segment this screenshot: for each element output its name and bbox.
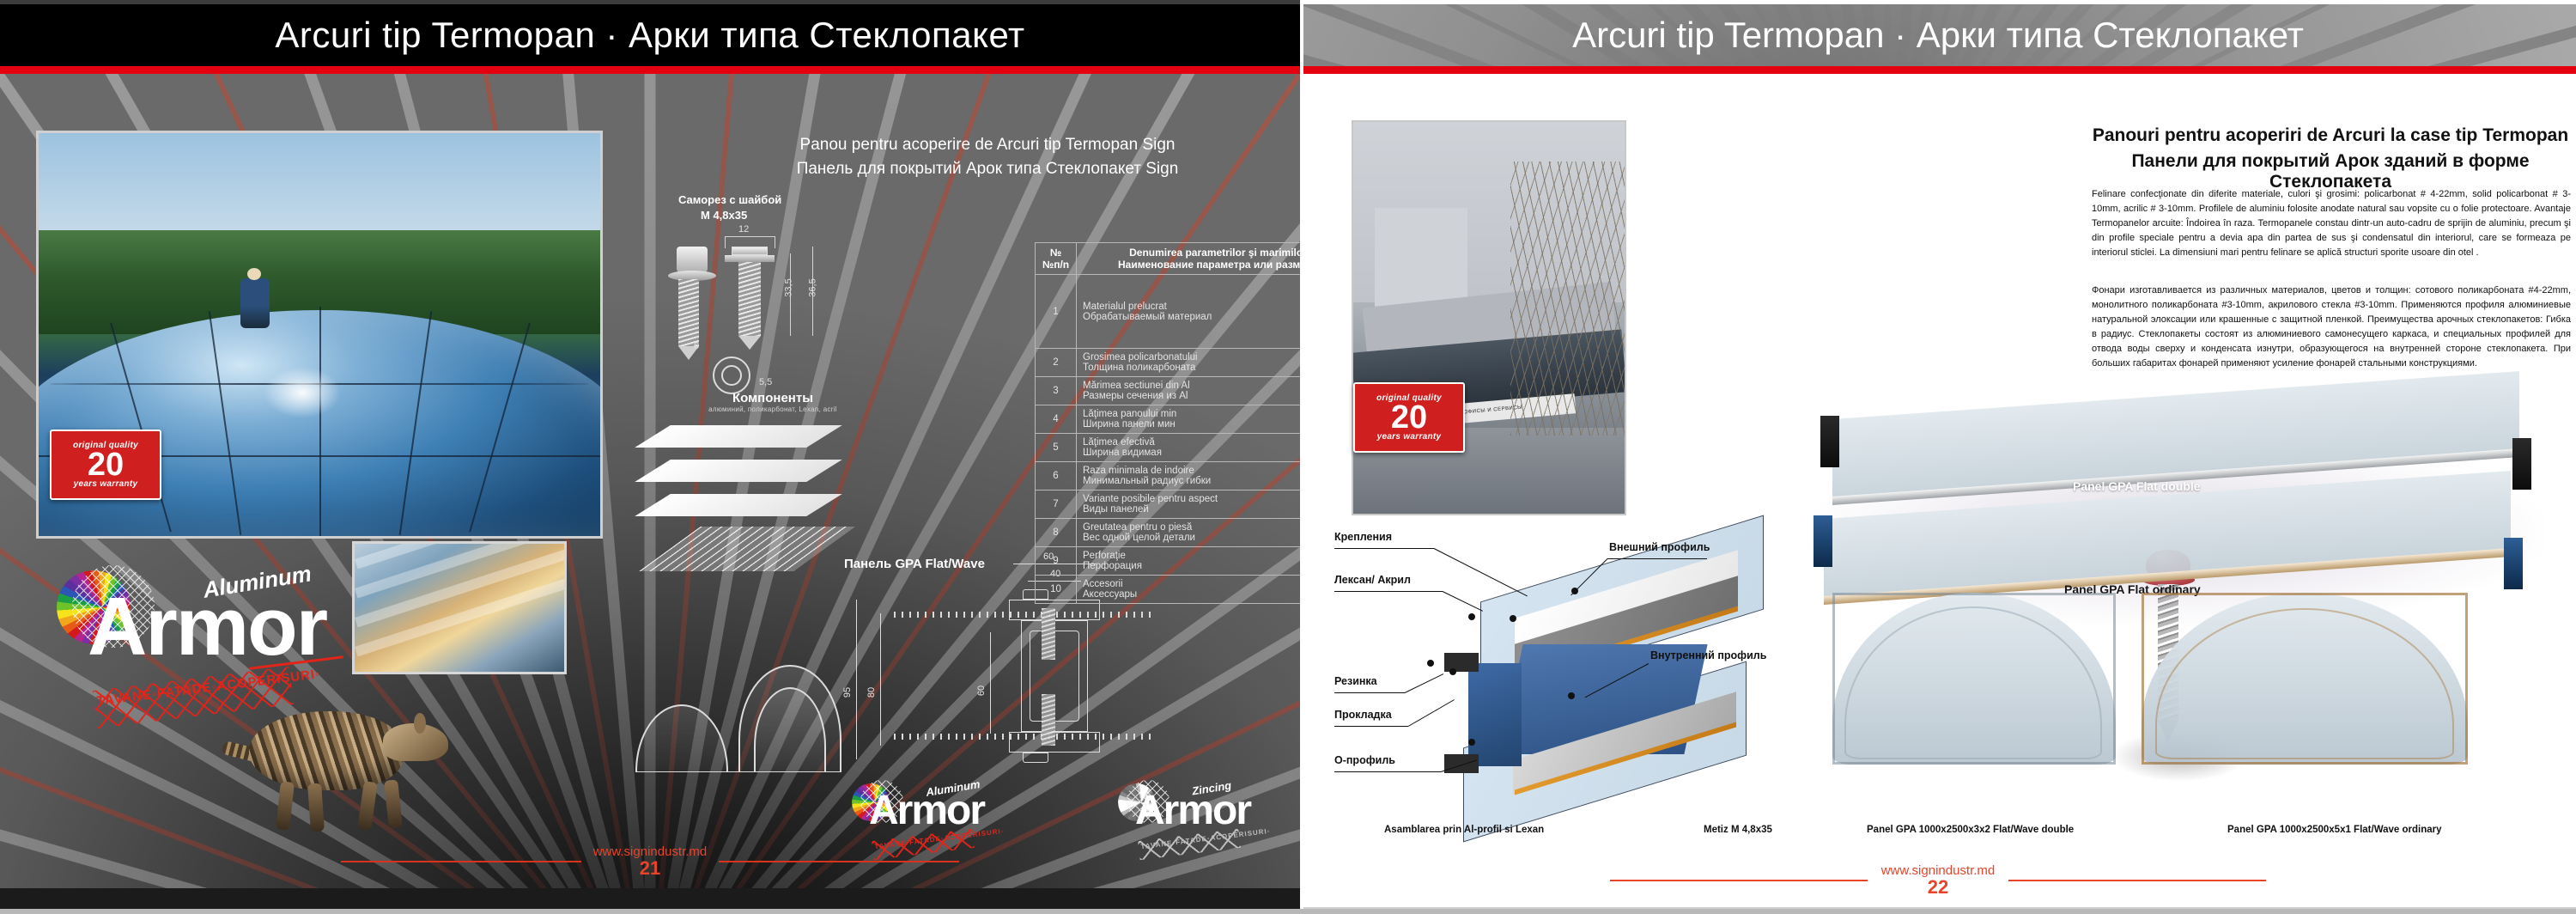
armadillo-leg xyxy=(307,783,325,832)
row-name-ro: Grosimea policarbonatului xyxy=(1083,352,1300,363)
row-number: 6 xyxy=(1036,462,1077,491)
row-name-ru: Вес одной целой детали xyxy=(1083,533,1300,543)
left-header-title: Arcuri tip Termopan · Арки типа Стеклопа… xyxy=(0,15,1300,56)
right-page-header: Arcuri tip Termopan · Арки типа Стеклопа… xyxy=(1300,4,2576,66)
dim-tick xyxy=(725,236,726,248)
table-row: 1Materialul prelucratОбрабатываемый мате… xyxy=(1036,275,1301,349)
screw-head xyxy=(732,247,768,255)
table-body: 1Materialul prelucratОбрабатываемый мате… xyxy=(1036,275,1301,604)
arch-baseline xyxy=(635,771,841,772)
th-name: Denumirea parametrilor şi marimilor Наим… xyxy=(1077,243,1301,275)
row-name-ru: Минимальный радиус гибки xyxy=(1083,476,1300,486)
screw-tip xyxy=(738,336,761,350)
table-row: 4Lăţimea panoului minШирина панели мин10… xyxy=(1036,405,1301,434)
badge-bottom-text: years warranty xyxy=(74,479,138,489)
spread-bottom-edge xyxy=(0,909,2576,914)
th-number-ro: № xyxy=(1042,247,1070,259)
footer-center: www.signindustr.md 21 xyxy=(593,845,708,878)
table-row: 2Grosimea policarbonatuluiТолщина полика… xyxy=(1036,349,1301,377)
armadillo-leg xyxy=(276,781,295,830)
callout-leader xyxy=(1405,673,1443,693)
caption-panel-ordinary: Panel GPA 1000x2500x5x1 Flat/Wave ordina… xyxy=(2227,825,2442,835)
catalog-spread: Arcuri tip Termopan · Арки типа Стеклопа… xyxy=(0,0,2576,914)
dim-rule-v xyxy=(990,632,991,734)
row-name-ru: Перфорация xyxy=(1083,561,1300,571)
callout-dot xyxy=(1427,660,1434,667)
callout-rezinka: Резинка xyxy=(1334,675,1377,687)
callout-rule xyxy=(1334,771,1441,772)
dim-rule-v xyxy=(856,600,857,759)
left-footer: www.signindustr.md 21 xyxy=(0,842,1300,881)
table-row: 6Raza minimala de indoireМинимальный рад… xyxy=(1036,462,1301,491)
th-name-ru: Наименование параметра или размера xyxy=(1083,259,1300,271)
callout-dot xyxy=(1571,588,1578,594)
right-title-ru: Панели для покрытий Арок зданий в форме … xyxy=(2090,151,2571,192)
panel-end-cap-right xyxy=(2512,438,2531,490)
table-row: 5Lăţimea efectivăШирина видимая940x2940 … xyxy=(1036,434,1301,462)
callout-dot xyxy=(1468,613,1475,620)
photo-building: АДА: САЛОН-МАГАЗИН, ОФИСЫ И СЕРВИСЫ xyxy=(1352,120,1626,515)
row-name-ro: Materialul prelucrat xyxy=(1083,302,1300,312)
armadillo-body xyxy=(249,711,404,790)
arch-shapes-group xyxy=(635,653,841,825)
right-page: Arcuri tip Termopan · Арки типа Стеклопа… xyxy=(1300,0,2576,914)
callout-inner-profile: Внутренний профиль xyxy=(1650,649,1766,661)
right-body-ro: Felinare confecţionate din diferite mate… xyxy=(2092,187,2571,260)
th-name-ro: Denumirea parametrilor şi marimilor xyxy=(1083,247,1300,259)
warranty-badge: original quality 20 years warranty xyxy=(50,430,161,500)
section-dim-80: 80 xyxy=(866,687,877,698)
th-number-ru: №п/n xyxy=(1042,259,1070,271)
building-tower xyxy=(1375,208,1467,310)
left-page-header: Arcuri tip Termopan · Арки типа Стеклопа… xyxy=(0,4,1300,66)
table-row: 8Greutatea pentru o piesăВес одной целой… xyxy=(1036,519,1301,547)
row-number: 7 xyxy=(1036,491,1077,519)
section-drawing-title: Панель GPA Flat/Wave xyxy=(844,557,985,571)
right-footer: www.signindustr.md 22 xyxy=(1300,861,2576,900)
dim-rule-v xyxy=(880,613,881,746)
panel-end-cap-left-2 xyxy=(1814,515,1832,567)
screw-label-size: M 4,8x35 xyxy=(701,209,747,222)
footer-rule-left xyxy=(1610,880,1868,881)
panel-label-double: Panel GPA Flat double xyxy=(2073,479,2201,493)
panel-end-cap-right-2 xyxy=(2504,538,2523,589)
armadillo-ear xyxy=(414,713,426,734)
component-slab-3 xyxy=(653,494,824,516)
badge-number: 20 xyxy=(88,450,124,479)
callout-outer-profile: Внешний профиль xyxy=(1609,541,1710,553)
badge-bottom-text: years warranty xyxy=(1377,432,1442,442)
row-parameter-name: AccesoriiАксессуары xyxy=(1077,576,1301,604)
right-header-red-rule xyxy=(1300,66,2576,74)
photo-glare xyxy=(264,367,341,418)
row-parameter-name: Raza minimala de indoireМинимальный ради… xyxy=(1077,462,1301,491)
armadillo-leg xyxy=(357,781,378,831)
armor-logo-wordmark: Armor xyxy=(1135,790,1250,832)
row-name-ru: Толщина поликарбоната xyxy=(1083,363,1300,373)
callout-rule xyxy=(1334,726,1408,727)
screw-dim-dia: 5,5 xyxy=(759,377,772,387)
row-parameter-name: Lăţimea panoului minШирина панели мин xyxy=(1077,405,1301,434)
caption-panel-double: Panel GPA 1000x2500x3x2 Flat/Wave double xyxy=(1867,825,2074,835)
footer-rule-right xyxy=(719,861,959,862)
row-name-ro: Lăţimea panoului min xyxy=(1083,409,1300,419)
callout-dot xyxy=(1510,615,1516,622)
row-parameter-name: Variante posibile pentru aspectВиды пане… xyxy=(1077,491,1301,519)
row-name-ro: Mărimea sectiunei din Al xyxy=(1083,381,1300,391)
row-name-ru: Виды панелей xyxy=(1083,504,1300,515)
component-slab-1 xyxy=(653,425,824,448)
row-name-ru: Обрабатываемый материал xyxy=(1083,312,1300,322)
armadillo-leg xyxy=(384,779,403,828)
callout-dot xyxy=(1568,692,1575,699)
screw-dim-a: 33,5 xyxy=(784,278,794,296)
row-parameter-name: Materialul prelucratОбрабатываемый матер… xyxy=(1077,275,1301,349)
caption-assembly: Asamblarea prin Al-profil si Lexan xyxy=(1384,825,1544,835)
footer-page-number: 22 xyxy=(1881,878,1996,897)
left-subtitle-ru: Панель для покрытий Арок типа Стеклопаке… xyxy=(713,160,1262,179)
row-name-ro: Lăţimea efectivă xyxy=(1083,437,1300,448)
callout-krepleniya: Крепления xyxy=(1334,531,1392,543)
dim-rule xyxy=(725,236,775,237)
screw-hex-head xyxy=(677,247,708,272)
row-parameter-name: Lăţimea efectivăШирина видимая xyxy=(1077,434,1301,462)
table-head: № №п/n Denumirea parametrilor şi marimil… xyxy=(1036,243,1301,275)
screw-dim-hex: 6 xyxy=(694,341,699,351)
screw-dim-b: 36,5 xyxy=(808,278,818,296)
table-row: 10AccesoriiАксессуарыgume de protectie, … xyxy=(1036,576,1301,604)
table-row: 9PerforaţieПерфорацияØ 4,8 mm xyxy=(1036,547,1301,576)
screw-dim-width: 12 xyxy=(738,224,749,235)
dim-tick xyxy=(775,236,775,248)
row-number: 1 xyxy=(1036,275,1077,349)
callout-prokladka: Прокладка xyxy=(1334,709,1392,721)
spread-gutter xyxy=(1300,0,1303,914)
assembly-diagram: Крепления Лексан/ Акрил Резинка Прокладк… xyxy=(1334,524,1884,850)
callout-leader xyxy=(1434,548,1528,596)
right-body-ru: Фонари изготавливается из различных мате… xyxy=(2092,283,2571,371)
left-page: Arcuri tip Termopan · Арки типа Стеклопа… xyxy=(0,0,1300,914)
row-name-ro: Perforaţie xyxy=(1083,551,1300,561)
section-screw-bottom xyxy=(1042,694,1055,746)
section-screw-top xyxy=(1042,608,1055,660)
components-title: Компоненты xyxy=(661,391,884,405)
callout-o-profile: О-профиль xyxy=(1334,754,1395,766)
row-name-ru: Ширина видимая xyxy=(1083,448,1300,458)
screw-shaft-2 xyxy=(678,279,699,346)
row-name-ro: Greutatea pentru o piesă xyxy=(1083,522,1300,533)
row-number: 3 xyxy=(1036,377,1077,405)
parameters-table: № №п/n Denumirea parametrilor şi marimil… xyxy=(1035,242,1300,604)
table-header-row: № №п/n Denumirea parametrilor şi marimil… xyxy=(1036,243,1301,275)
callout-rule xyxy=(1334,591,1443,592)
section-dim-60b: 60 xyxy=(976,685,987,696)
row-number: 2 xyxy=(1036,349,1077,377)
armor-logo-wordmark: Armor xyxy=(869,790,984,832)
row-name-ru: Аксессуары xyxy=(1083,589,1300,600)
row-parameter-name: Greutatea pentru o piesăВес одной целой … xyxy=(1077,519,1301,547)
photo-roof-tiles xyxy=(352,541,567,674)
th-number: № №п/n xyxy=(1036,243,1077,275)
row-number: 9 xyxy=(1036,547,1077,576)
right-header-title: Arcuri tip Termopan · Арки типа Стеклопа… xyxy=(1300,15,2576,56)
component-polycarbonate-sheet xyxy=(639,527,855,571)
caption-screw: Metiz M 4,8x35 xyxy=(1704,825,1772,835)
warranty-badge: original quality 20 years warranty xyxy=(1353,382,1465,453)
photo-worker xyxy=(240,278,270,328)
screw-label-title: Саморез с шайбой xyxy=(678,193,781,206)
assembly-end-cap xyxy=(1468,663,1522,766)
arch-shape-small xyxy=(635,704,728,771)
row-name-ru: Ширина панели мин xyxy=(1083,419,1300,430)
footer-rule-left xyxy=(341,861,581,862)
row-name-ro: Accesorii xyxy=(1083,579,1300,589)
callout-dot xyxy=(1468,739,1475,746)
callout-rule xyxy=(1607,558,1707,559)
row-parameter-name: PerforaţieПерфорация xyxy=(1077,547,1301,576)
component-slab-2 xyxy=(653,460,824,482)
row-number: 4 xyxy=(1036,405,1077,434)
row-number: 10 xyxy=(1036,576,1077,604)
armadillo-mascot xyxy=(215,687,472,842)
dome-rib xyxy=(319,307,321,536)
screw-drawing: Саморез с шайбой M 4,8x35 12 33,5 36,5 xyxy=(653,193,910,417)
footer-center: www.signindustr.md 22 xyxy=(1881,864,1996,897)
callout-rule xyxy=(1334,692,1405,693)
callout-leader xyxy=(1408,699,1455,727)
footer-rule-right xyxy=(2008,880,2266,881)
callout-dot xyxy=(1449,668,1456,675)
row-name-ro: Variante posibile pentru aspect xyxy=(1083,494,1300,504)
callout-lexan-acryl: Лексан/ Акрил xyxy=(1334,574,1411,586)
screw-top-view-inner xyxy=(721,365,742,386)
row-name-ru: Размеры сечения из Al xyxy=(1083,391,1300,401)
row-number: 8 xyxy=(1036,519,1077,547)
row-parameter-name: Mărimea sectiunei din AlРазмеры сечения … xyxy=(1077,377,1301,405)
row-parameter-name: Grosimea policarbonatuluiТолщина поликар… xyxy=(1077,349,1301,377)
armor-logo-wordmark: Armor xyxy=(88,586,326,668)
row-number: 5 xyxy=(1036,434,1077,462)
table-row: 7Variante posibile pentru aspectВиды пан… xyxy=(1036,491,1301,519)
arch-panel-right xyxy=(2142,593,2468,790)
screw-washer xyxy=(725,255,775,262)
footer-page-number: 21 xyxy=(593,859,708,878)
section-cap-bottom xyxy=(1023,753,1048,763)
callout-rule xyxy=(1334,548,1434,549)
table-row: 3Mărimea sectiunei din AlРазмеры сечения… xyxy=(1036,377,1301,405)
row-name-ro: Raza minimala de indoire xyxy=(1083,466,1300,476)
arch-panel-left xyxy=(1832,593,2116,790)
panel-end-cap-left xyxy=(1820,416,1839,467)
photo-tree xyxy=(1510,161,1625,436)
badge-number: 20 xyxy=(1391,403,1427,432)
left-header-red-rule xyxy=(0,66,1300,74)
screw-shaft xyxy=(738,262,761,336)
section-dim-95: 95 xyxy=(842,687,853,698)
callout-leader xyxy=(1443,591,1483,612)
left-subtitle-ro: Panou pentru acoperire de Arcuri tip Ter… xyxy=(713,136,1262,155)
components-subtitle: алюминий, поликарбонат, Lexan, acril xyxy=(661,405,884,413)
right-title-ro: Panouri pentru acoperiri de Arcuri la ca… xyxy=(2090,125,2571,146)
